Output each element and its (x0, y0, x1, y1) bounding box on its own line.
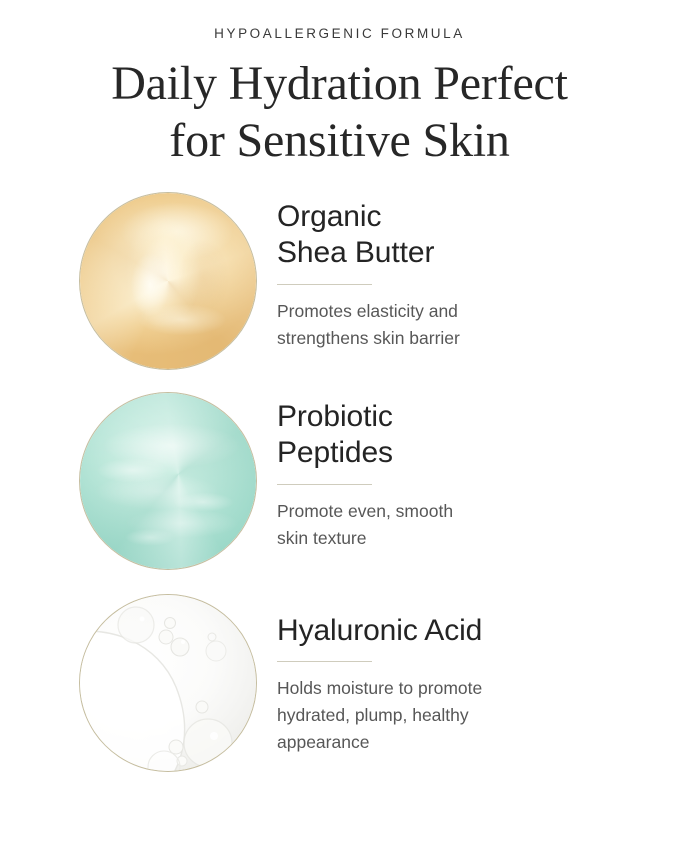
ingredient-row-hyaluronic-acid: Hyaluronic Acid Holds moisture to promot… (0, 595, 679, 771)
hyaluronic-acid-swatch (80, 595, 256, 771)
product-infographic: HYPOALLERGENIC FORMULA Daily Hydration P… (0, 0, 679, 849)
desc-line-2: hydrated, plump, healthy (277, 702, 597, 729)
swatch-container-hyaluronic-acid (80, 595, 256, 771)
header: HYPOALLERGENIC FORMULA Daily Hydration P… (0, 0, 679, 169)
ingredient-text-probiotic-peptides: Probiotic Peptides Promote even, smooth … (256, 393, 597, 551)
title-divider (277, 284, 372, 285)
title-line-1: Organic (277, 199, 597, 236)
ingredient-description-shea-butter: Promotes elasticity and strengthens skin… (277, 298, 597, 351)
swatch-container-shea-butter (80, 193, 256, 369)
ingredient-description-hyaluronic-acid: Holds moisture to promote hydrated, plum… (277, 675, 597, 755)
ingredient-description-probiotic-peptides: Promote even, smooth skin texture (277, 498, 597, 551)
title-line-2: Peptides (277, 435, 597, 472)
ingredient-text-shea-butter: Organic Shea Butter Promotes elasticity … (256, 193, 597, 351)
eyebrow-text: HYPOALLERGENIC FORMULA (0, 27, 679, 41)
swatch-rim-shading (80, 595, 256, 771)
title-divider (277, 661, 372, 662)
swatch-rim-shading (80, 193, 256, 369)
desc-line-2: strengthens skin barrier (277, 325, 597, 352)
ingredient-row-probiotic-peptides: Probiotic Peptides Promote even, smooth … (0, 393, 679, 569)
desc-line-2: skin texture (277, 525, 597, 552)
headline-line-2: for Sensitive Skin (40, 112, 639, 169)
swatch-rim-shading (80, 393, 256, 569)
title-line-1: Hyaluronic Acid (277, 613, 597, 650)
organic-shea-butter-swatch (80, 193, 256, 369)
desc-line-3: appearance (277, 729, 597, 756)
title-divider (277, 484, 372, 485)
ingredient-title-hyaluronic-acid: Hyaluronic Acid (277, 613, 597, 650)
probiotic-peptides-swatch (80, 393, 256, 569)
desc-line-1: Holds moisture to promote (277, 675, 597, 702)
page-title: Daily Hydration Perfect for Sensitive Sk… (0, 55, 679, 169)
ingredient-list: Organic Shea Butter Promotes elasticity … (0, 193, 679, 771)
ingredient-row-shea-butter: Organic Shea Butter Promotes elasticity … (0, 193, 679, 369)
ingredient-text-hyaluronic-acid: Hyaluronic Acid Holds moisture to promot… (256, 595, 597, 755)
ingredient-title-probiotic-peptides: Probiotic Peptides (277, 399, 597, 472)
title-line-1: Probiotic (277, 399, 597, 436)
desc-line-1: Promote even, smooth (277, 498, 597, 525)
headline-line-1: Daily Hydration Perfect (40, 55, 639, 112)
title-line-2: Shea Butter (277, 235, 597, 272)
ingredient-title-shea-butter: Organic Shea Butter (277, 199, 597, 272)
desc-line-1: Promotes elasticity and (277, 298, 597, 325)
swatch-container-probiotic-peptides (80, 393, 256, 569)
